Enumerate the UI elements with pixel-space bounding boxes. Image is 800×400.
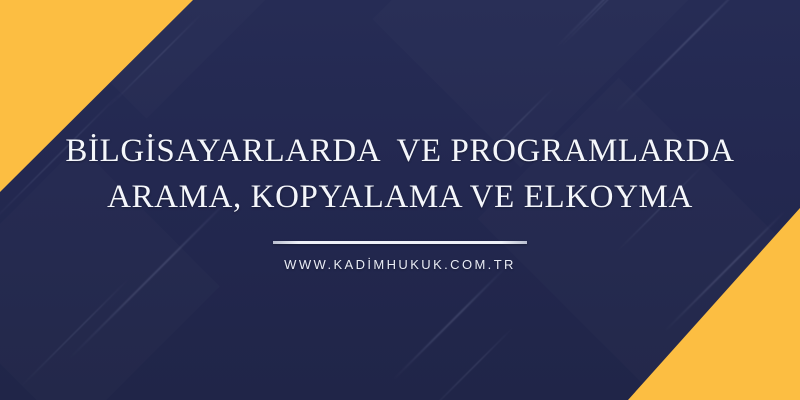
site-url-label: WWW.KADİMHUKUK.COM.TR (284, 257, 516, 272)
page-title-line-2: ARAMA, KOPYALAMA VE ELKOYMA (65, 174, 734, 220)
page-title-line-1: BİLGİSAYARLARDA VE PROGRAMLARDA (65, 128, 734, 174)
article-title-banner: BİLGİSAYARLARDA VE PROGRAMLARDA ARAMA, K… (0, 0, 800, 400)
title-divider (273, 241, 527, 244)
banner-content: BİLGİSAYARLARDA VE PROGRAMLARDA ARAMA, K… (0, 0, 800, 400)
page-title: BİLGİSAYARLARDA VE PROGRAMLARDA ARAMA, K… (65, 128, 734, 220)
